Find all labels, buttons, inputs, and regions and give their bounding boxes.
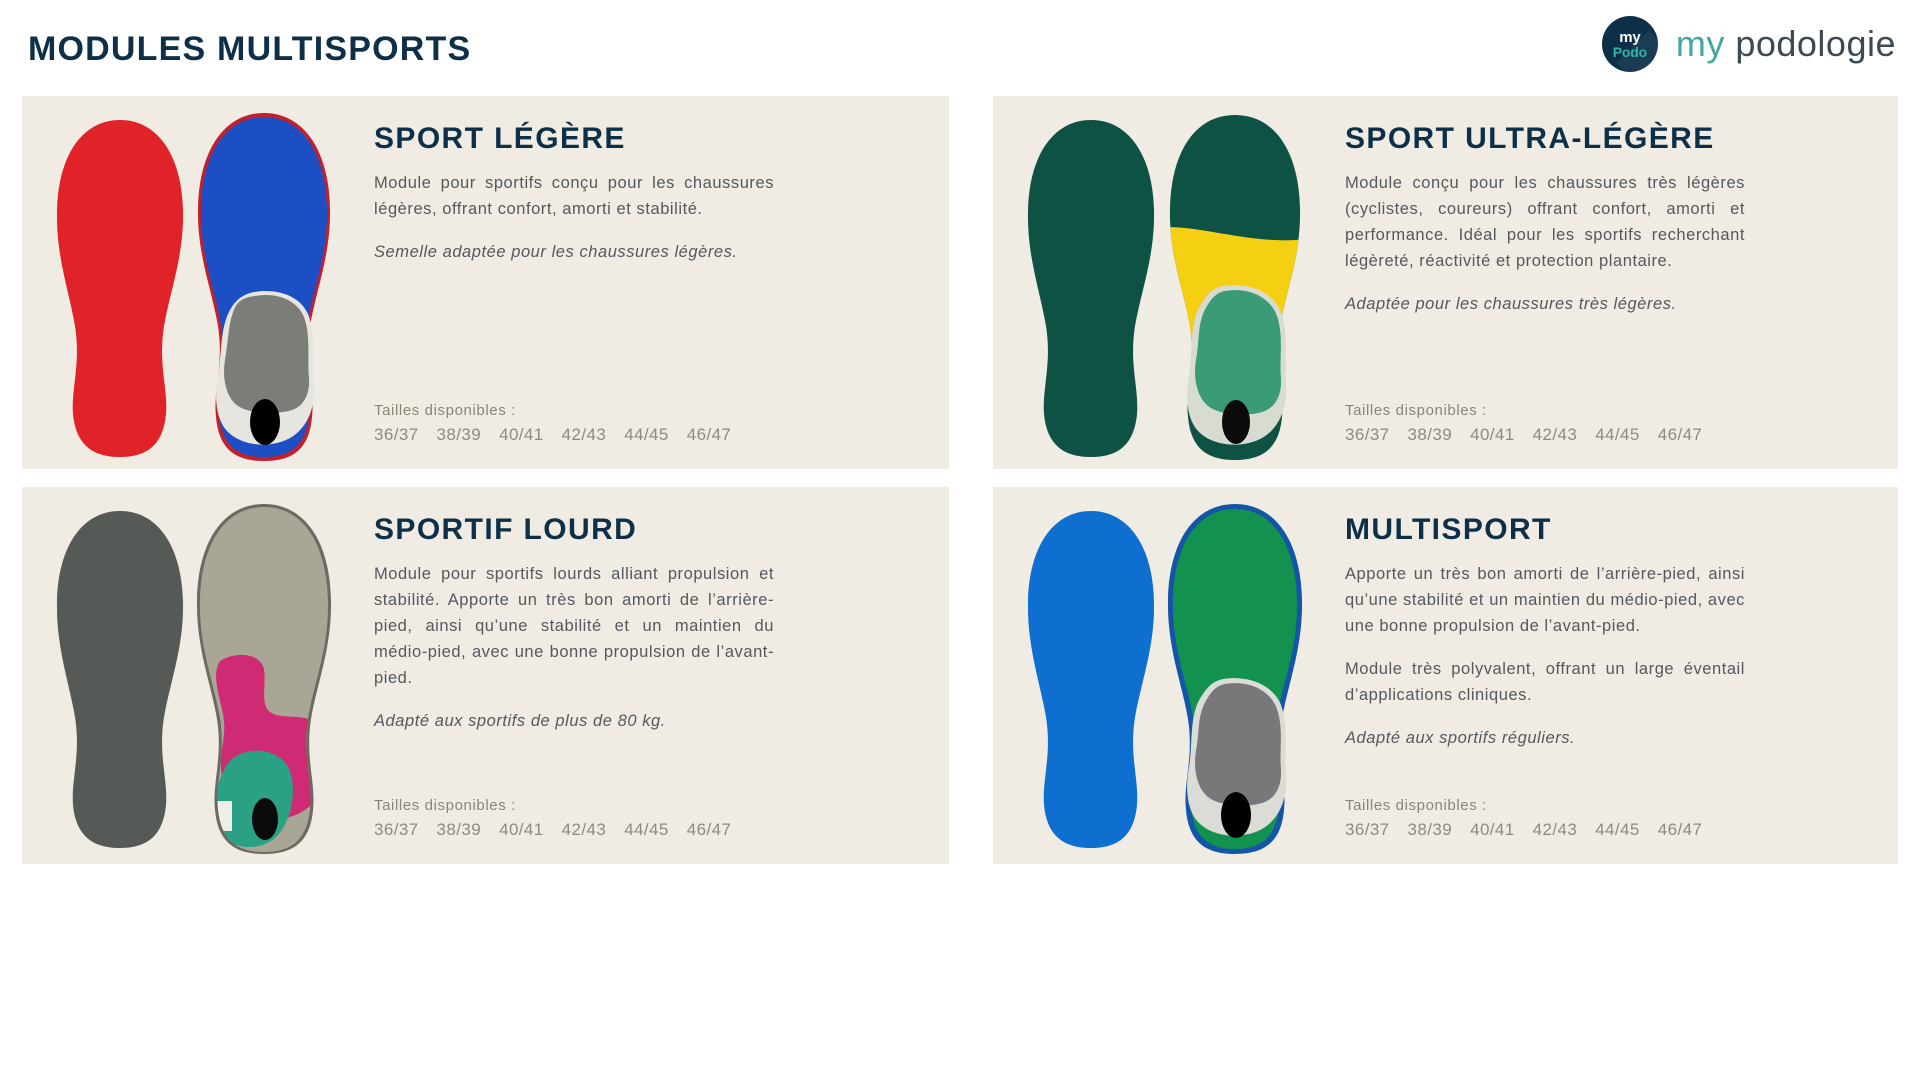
size-chip[interactable]: 42/43 — [562, 425, 607, 445]
size-chip[interactable]: 46/47 — [687, 425, 732, 445]
size-chip[interactable]: 40/41 — [499, 425, 544, 445]
size-chip[interactable]: 44/45 — [624, 820, 669, 840]
sizes-block-4: Tailles disponibles : 36/37 38/39 40/41 … — [1345, 797, 1765, 840]
insole-left-red — [50, 116, 190, 461]
size-chip[interactable]: 42/43 — [562, 820, 607, 840]
logo-badge-my: my — [1619, 30, 1640, 45]
module-description-1: Module pour sportifs conçu pour les chau… — [374, 170, 774, 222]
size-chip[interactable]: 38/39 — [1408, 820, 1453, 840]
module-card-sport-legere[interactable]: SPORT LÉGÈRE Module pour sportifs conçu … — [22, 96, 949, 469]
poster-root: MODULES MULTISPORTS my Podo my podologie — [0, 0, 1920, 1080]
page-header: MODULES MULTISPORTS my Podo my podologie — [0, 0, 1920, 96]
size-chip[interactable]: 38/39 — [437, 820, 482, 840]
module-description-3: Module pour sportifs lourds alliant prop… — [374, 561, 774, 691]
module-note-3: Adapté aux sportifs de plus de 80 kg. — [374, 708, 774, 734]
sizes-block-3: Tailles disponibles : 36/37 38/39 40/41 … — [374, 797, 794, 840]
brand-wordmark-podologie: podologie — [1735, 23, 1896, 64]
size-chip[interactable]: 38/39 — [437, 425, 482, 445]
module-note-4: Adapté aux sportifs réguliers. — [1345, 725, 1745, 751]
sizes-label-4: Tailles disponibles : — [1345, 797, 1765, 814]
size-chip[interactable]: 36/37 — [374, 820, 419, 840]
size-chip[interactable]: 42/43 — [1533, 425, 1578, 445]
insole-left-blue — [1021, 507, 1161, 852]
size-chip[interactable]: 40/41 — [1470, 820, 1515, 840]
size-chip[interactable]: 44/45 — [1595, 425, 1640, 445]
module-title-1: SPORT LÉGÈRE — [374, 122, 919, 156]
module-text-2: SPORT ULTRA-LÉGÈRE Module conçu pour les… — [1323, 96, 1898, 469]
size-chip[interactable]: 46/47 — [1658, 425, 1703, 445]
sizes-label-1: Tailles disponibles : — [374, 402, 794, 419]
size-chip[interactable]: 46/47 — [1658, 820, 1703, 840]
module-card-multisport[interactable]: MULTISPORT Apporte un très bon amorti de… — [993, 487, 1898, 864]
module-text-3: SPORTIF LOURD Module pour sportifs lourd… — [352, 487, 949, 864]
sizes-block-1: Tailles disponibles : 36/37 38/39 40/41 … — [374, 402, 794, 445]
size-chip[interactable]: 44/45 — [1595, 820, 1640, 840]
sizes-label-3: Tailles disponibles : — [374, 797, 794, 814]
module-description-4b: Module très polyvalent, offrant un large… — [1345, 656, 1745, 708]
insole-pair-image-4 — [993, 487, 1323, 864]
insole-right-beige-pink — [192, 501, 337, 856]
module-title-3: SPORTIF LOURD — [374, 513, 919, 547]
module-card-sportif-lourd[interactable]: SPORTIF LOURD Module pour sportifs lourd… — [22, 487, 949, 864]
brand-logo: my Podo my podologie — [1602, 16, 1896, 72]
insole-pair-image-2 — [993, 96, 1323, 469]
brand-wordmark: my podologie — [1676, 23, 1896, 65]
module-title-4: MULTISPORT — [1345, 513, 1868, 547]
insole-left-gray — [50, 507, 190, 852]
size-chip[interactable]: 40/41 — [1470, 425, 1515, 445]
insole-right-blue-green — [1163, 501, 1308, 856]
size-chip[interactable]: 40/41 — [499, 820, 544, 840]
module-description-4: Apporte un très bon amorti de l’arrière-… — [1345, 561, 1745, 639]
sizes-label-2: Tailles disponibles : — [1345, 402, 1765, 419]
insole-pair-image-3 — [22, 487, 352, 864]
sizes-row-3: 36/37 38/39 40/41 42/43 44/45 46/47 — [374, 820, 794, 840]
insole-pair-image-1 — [22, 96, 352, 469]
brand-wordmark-my: my — [1676, 23, 1736, 64]
size-chip[interactable]: 36/37 — [1345, 425, 1390, 445]
size-chip[interactable]: 36/37 — [1345, 820, 1390, 840]
sizes-row-1: 36/37 38/39 40/41 42/43 44/45 46/47 — [374, 425, 794, 445]
size-chip[interactable]: 38/39 — [1408, 425, 1453, 445]
module-text-4: MULTISPORT Apporte un très bon amorti de… — [1323, 487, 1898, 864]
sizes-row-2: 36/37 38/39 40/41 42/43 44/45 46/47 — [1345, 425, 1765, 445]
logo-badge-podo: Podo — [1613, 45, 1647, 59]
insole-right-blue — [192, 110, 337, 465]
sizes-block-2: Tailles disponibles : 36/37 38/39 40/41 … — [1345, 402, 1765, 445]
module-title-2: SPORT ULTRA-LÉGÈRE — [1345, 122, 1868, 156]
size-chip[interactable]: 42/43 — [1533, 820, 1578, 840]
module-note-1: Semelle adaptée pour les chaussures légè… — [374, 239, 774, 265]
sizes-row-4: 36/37 38/39 40/41 42/43 44/45 46/47 — [1345, 820, 1765, 840]
size-chip[interactable]: 46/47 — [687, 820, 732, 840]
modules-grid: SPORT LÉGÈRE Module pour sportifs conçu … — [22, 96, 1898, 1064]
size-chip[interactable]: 44/45 — [624, 425, 669, 445]
page-title: MODULES MULTISPORTS — [28, 30, 471, 69]
size-chip[interactable]: 36/37 — [374, 425, 419, 445]
insole-left-green — [1021, 116, 1161, 461]
module-text-1: SPORT LÉGÈRE Module pour sportifs conçu … — [352, 96, 949, 469]
insole-right-green-yellow — [1163, 110, 1308, 465]
logo-badge-icon: my Podo — [1602, 16, 1658, 72]
module-description-2: Module conçu pour les chaussures très lé… — [1345, 170, 1745, 274]
module-card-sport-ultra-legere[interactable]: SPORT ULTRA-LÉGÈRE Module conçu pour les… — [993, 96, 1898, 469]
module-note-2: Adaptée pour les chaussures très légères… — [1345, 291, 1745, 317]
